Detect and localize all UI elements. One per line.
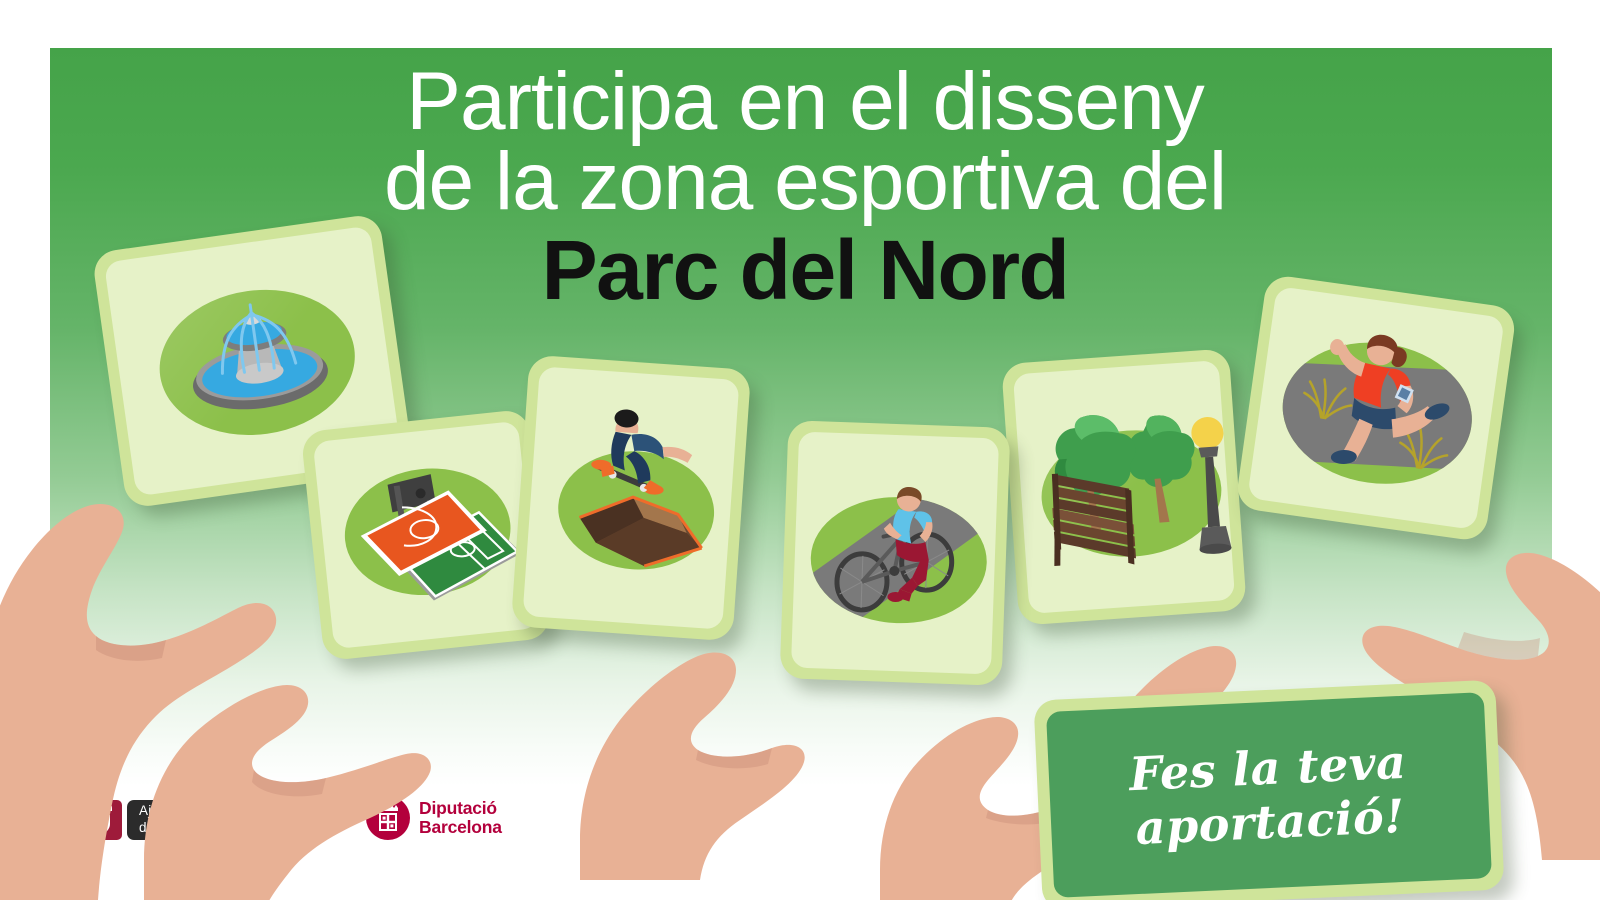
hand-second [120,560,450,900]
cta-line-2: aportació! [1134,789,1405,855]
fountain-illustration [152,262,361,437]
cta-box[interactable]: Fes la teva aportació! [1033,680,1504,900]
cta-text: Fes la teva aportació! [1128,735,1410,856]
cta-inner: Fes la teva aportació! [1046,692,1492,898]
poster-canvas: Participa en el disseny de la zona espor… [0,0,1600,900]
